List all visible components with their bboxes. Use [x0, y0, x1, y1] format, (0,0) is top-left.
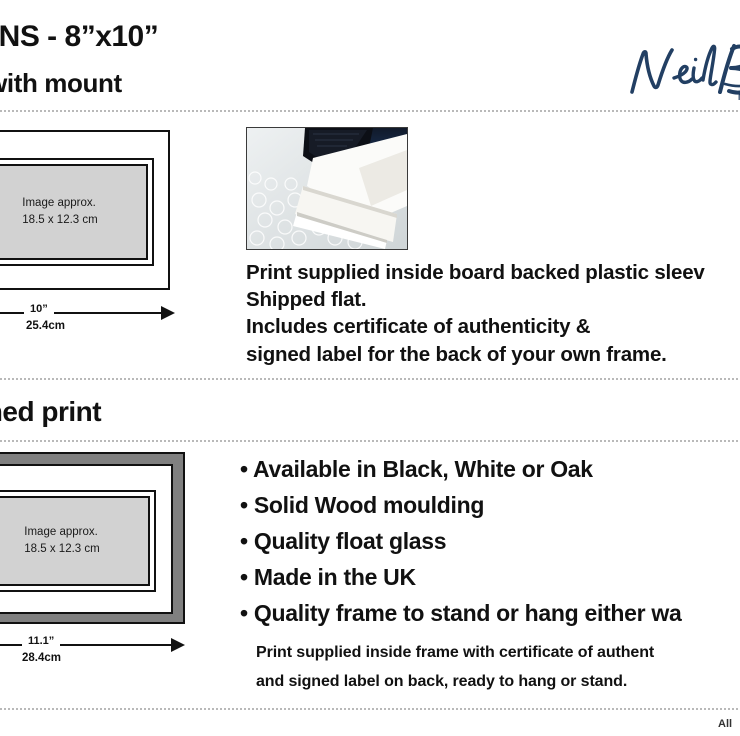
- bullet-marker: •: [240, 492, 248, 518]
- mount-width-dimension: 10” 25.4cm: [0, 300, 175, 340]
- framed-section-heading: med print: [0, 396, 101, 428]
- bullet-marker: •: [240, 600, 248, 626]
- framed-width-dimension: 11.1” 28.4cm: [0, 632, 185, 672]
- divider-header: [0, 110, 740, 112]
- divider-section-1: [0, 378, 740, 380]
- framed-bullet-3-label: Quality float glass: [254, 528, 446, 554]
- mount-diagram: Image approx. 18.5 x 12.3 cm: [0, 130, 170, 290]
- image-area: Image approx. 18.5 x 12.3 cm: [0, 164, 148, 260]
- bullet-marker: •: [240, 528, 248, 554]
- divider-footer: [0, 708, 740, 710]
- divider-section-2: [0, 440, 740, 442]
- mount-copy-line-3: Includes certificate of authenticity &: [246, 315, 590, 339]
- mount-window-border: Image approx. 18.5 x 12.3 cm: [0, 158, 154, 266]
- framed-diagram: Image approx. 18.5 x 12.3 cm: [0, 452, 185, 624]
- framed-dimension-cm: 28.4cm: [22, 652, 61, 664]
- mounted-print-photo: [246, 127, 408, 250]
- bullet-marker: •: [240, 564, 248, 590]
- framed-bullet-4-label: Made in the UK: [254, 564, 416, 590]
- framed-bullet-1: • Available in Black, White or Oak: [240, 456, 593, 483]
- framed-bullet-1-label: Available in Black, White or Oak: [253, 456, 593, 482]
- mount-copy-line-4: signed label for the back of your own fr…: [246, 343, 667, 367]
- frame-moulding: Image approx. 18.5 x 12.3 cm: [0, 452, 185, 624]
- framed-dimension-inches: 11.1”: [22, 635, 60, 647]
- brand-signature-logo: NB: [624, 40, 740, 104]
- framed-bullet-4: • Made in the UK: [240, 564, 416, 591]
- framed-bullet-5: • Quality frame to stand or hang either …: [240, 600, 682, 627]
- image-size-label: Image approx. 18.5 x 12.3 cm: [16, 195, 97, 228]
- mount-dimension-inches: 10”: [24, 303, 54, 315]
- framed-mount-board: Image approx. 18.5 x 12.3 cm: [0, 464, 173, 614]
- framed-note-line-1: Print supplied inside frame with certifi…: [256, 644, 654, 662]
- mount-board: Image approx. 18.5 x 12.3 cm: [0, 130, 170, 290]
- mount-copy-line-1: Print supplied inside board backed plast…: [246, 261, 705, 285]
- page-title: IONS - 8”x10”: [0, 20, 158, 54]
- framed-bullet-2-label: Solid Wood moulding: [254, 492, 484, 518]
- framed-image-area: Image approx. 18.5 x 12.3 cm: [0, 496, 150, 586]
- mount-copy-line-2: Shipped flat.: [246, 288, 366, 312]
- framed-bullet-3: • Quality float glass: [240, 528, 446, 555]
- mount-dimension-cm: 25.4cm: [26, 320, 65, 332]
- bullet-marker: •: [240, 456, 248, 482]
- framed-mount-window-border: Image approx. 18.5 x 12.3 cm: [0, 490, 156, 592]
- footer-note: All: [718, 718, 732, 730]
- framed-bullet-2: • Solid Wood moulding: [240, 492, 484, 519]
- framed-image-size-label: Image approx. 18.5 x 12.3 cm: [18, 524, 99, 557]
- page-subtitle: t with mount: [0, 68, 122, 99]
- framed-bullet-5-label: Quality frame to stand or hang either wa: [254, 600, 682, 626]
- framed-note-line-2: and signed label on back, ready to hang …: [256, 673, 627, 691]
